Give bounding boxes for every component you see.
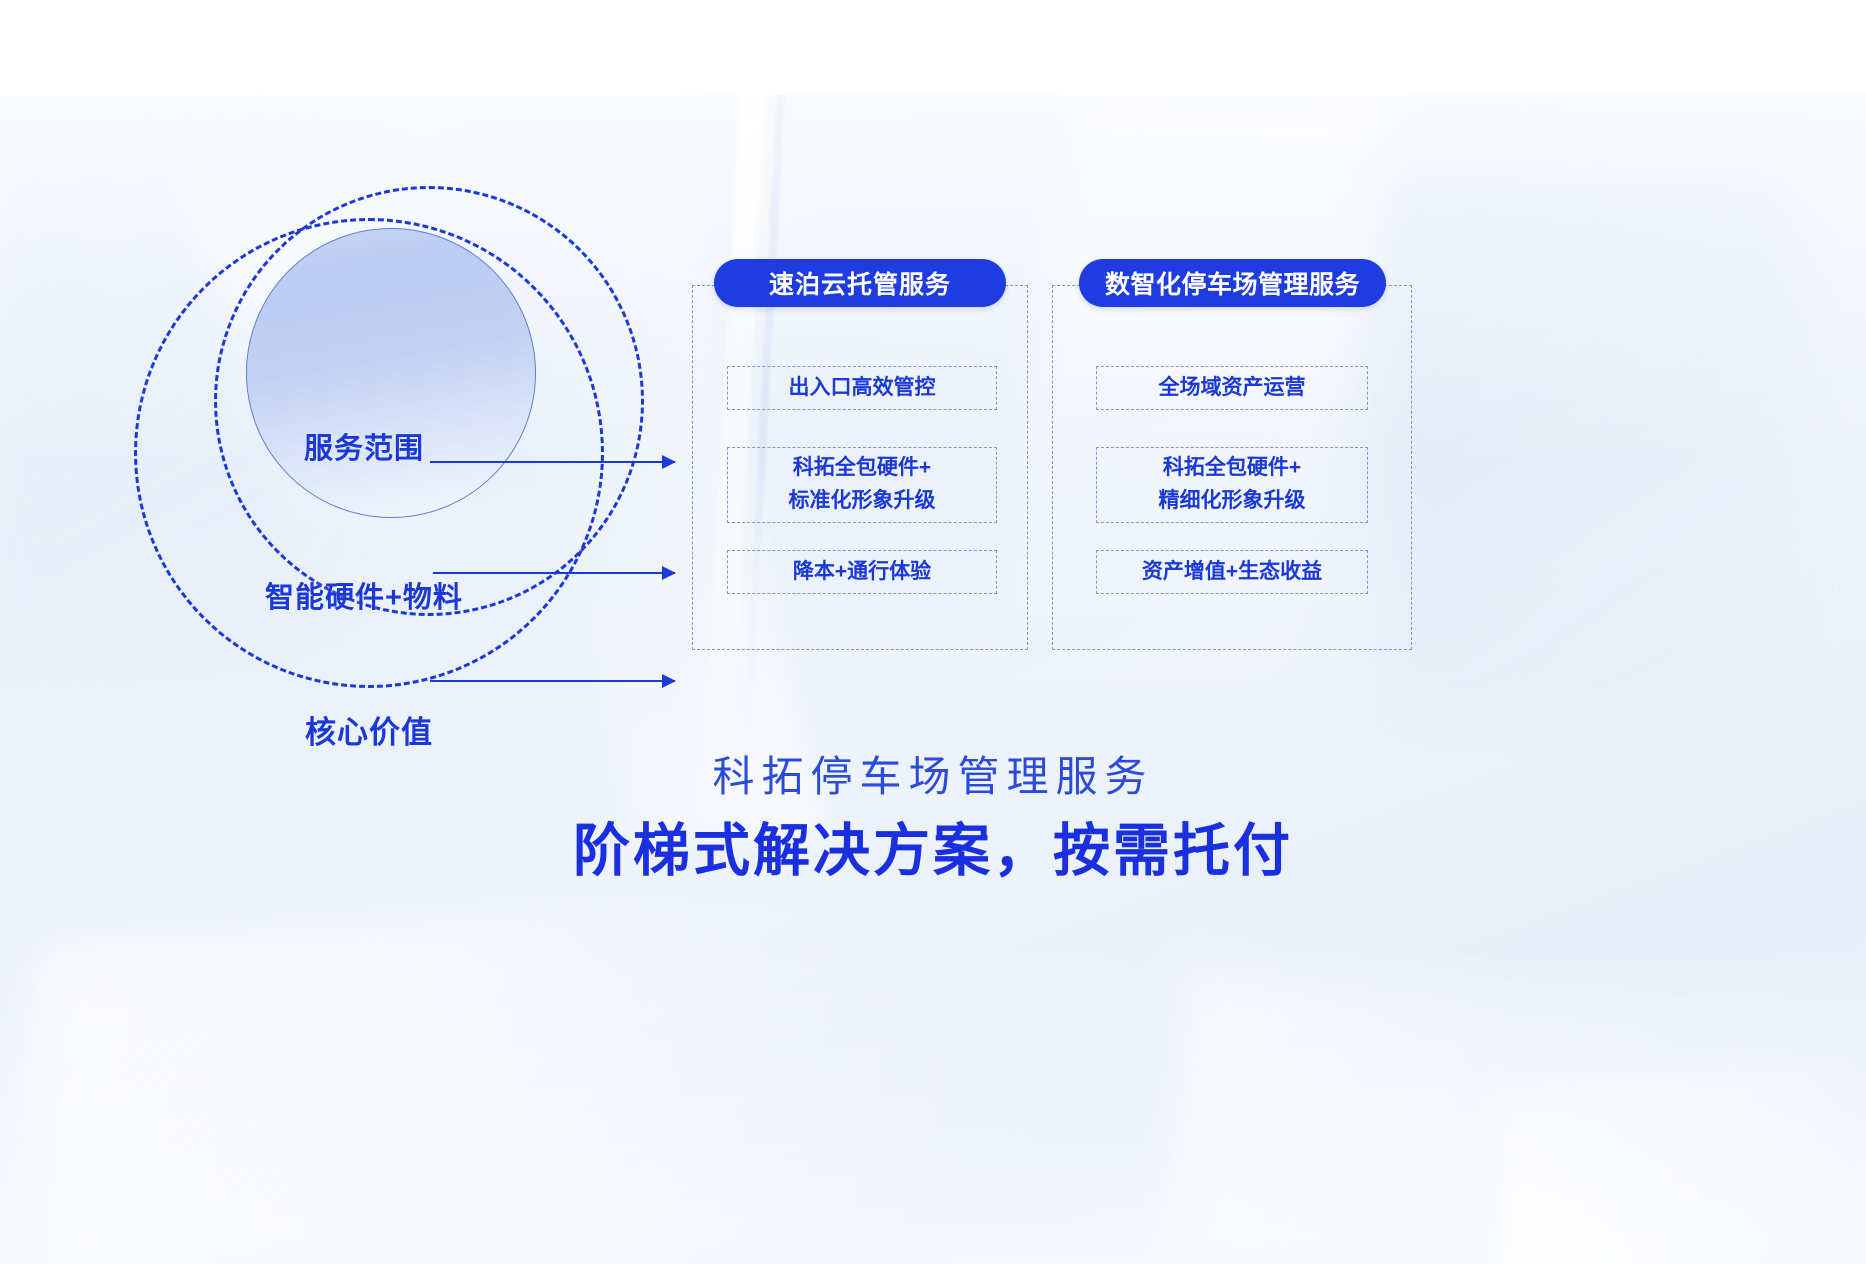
circle-label-service-scope: 服务范围 (304, 425, 424, 467)
light-streak (1180, 962, 1866, 1264)
item-line-1: 科拓全包硬件+ (793, 452, 931, 485)
item-line-2: 精细化形象升级 (1159, 485, 1306, 518)
item-line-1: 出入口高效管控 (789, 372, 936, 405)
column-b-item-2[interactable]: 科拓全包硬件+ 精细化形象升级 (1096, 447, 1368, 523)
footer-block: 科拓停车场管理服务 阶梯式解决方案，按需托付 (0, 750, 1866, 890)
column-b-item-1[interactable]: 全场域资产运营 (1096, 366, 1368, 410)
item-line-1: 科拓全包硬件+ (1163, 452, 1301, 485)
footer-subtitle: 科拓停车场管理服务 (0, 750, 1866, 805)
item-line-1: 降本+通行体验 (793, 556, 931, 589)
arrow-smart-hardware (433, 572, 675, 574)
circle-label-smart-hardware: 智能硬件+物料 (265, 574, 463, 616)
light-streak (40, 884, 940, 1264)
footer-title: 阶梯式解决方案，按需托付 (0, 813, 1866, 890)
light-streak (1380, 155, 1800, 715)
arrow-core-value (430, 680, 675, 682)
arrow-service-scope (430, 461, 675, 463)
column-header-supark-cloud[interactable]: 速泊云托管服务 (714, 259, 1006, 307)
column-b-item-3[interactable]: 资产增值+生态收益 (1096, 550, 1368, 594)
item-line-1: 全场域资产运营 (1159, 372, 1306, 405)
column-header-digital-parking[interactable]: 数智化停车场管理服务 (1079, 259, 1386, 307)
column-a-item-3[interactable]: 降本+通行体验 (727, 550, 997, 594)
column-a-item-1[interactable]: 出入口高效管控 (727, 366, 997, 410)
light-streak (1500, 1048, 1866, 1264)
circle-label-core-value: 核心价值 (305, 707, 433, 752)
inner-gradient-circle (246, 228, 536, 518)
slide-canvas: 服务范围 智能硬件+物料 核心价值 速泊云托管服务 出入口高效管控 科拓全包硬件… (0, 0, 1866, 1264)
item-line-2: 标准化形象升级 (789, 485, 936, 518)
item-line-1: 资产增值+生态收益 (1142, 556, 1322, 589)
column-a-item-2[interactable]: 科拓全包硬件+ 标准化形象升级 (727, 447, 997, 523)
